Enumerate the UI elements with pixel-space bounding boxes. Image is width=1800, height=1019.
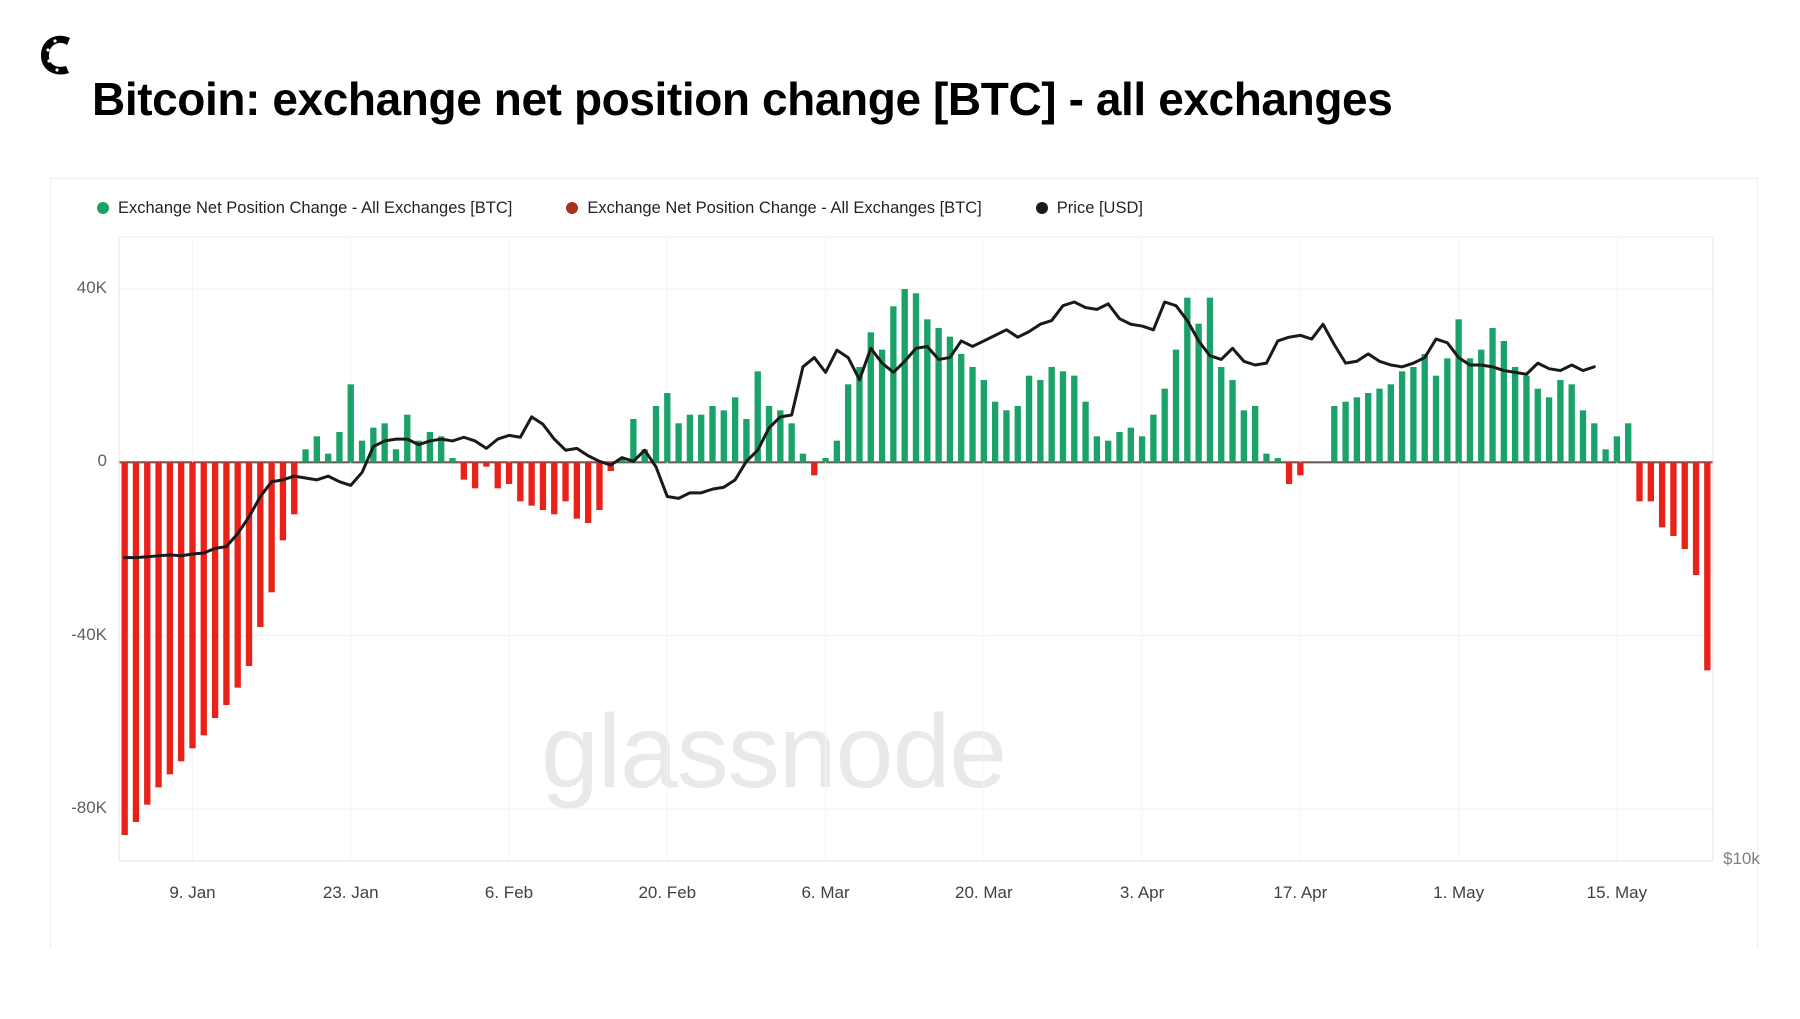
bar (1467, 358, 1473, 462)
legend-item-inflow[interactable]: Exchange Net Position Change - All Excha… (97, 199, 512, 218)
bar (1433, 376, 1439, 463)
bar (958, 354, 964, 462)
bar (1501, 341, 1507, 462)
glassnode-logo (30, 28, 84, 82)
bar (1670, 462, 1676, 536)
bar (913, 293, 919, 462)
bar (461, 462, 467, 479)
bar (189, 462, 195, 748)
bar (540, 462, 546, 510)
bar (992, 402, 998, 463)
bar (133, 462, 139, 822)
bar (257, 462, 263, 627)
glassnode-c-logo-icon (30, 28, 84, 82)
bar (675, 423, 681, 462)
bar (664, 393, 670, 462)
bar (630, 419, 636, 462)
bar (1263, 454, 1269, 463)
bar (1297, 462, 1303, 475)
bar (506, 462, 512, 484)
bar (574, 462, 580, 518)
bar (280, 462, 286, 540)
bar (1060, 371, 1066, 462)
bar (845, 384, 851, 462)
right-axis-label: $10k (1723, 849, 1760, 869)
bar (144, 462, 150, 804)
bar (1116, 432, 1122, 462)
bar (800, 454, 806, 463)
page-title: Bitcoin: exchange net position change [B… (92, 72, 1392, 126)
bar (472, 462, 478, 488)
bar (1139, 436, 1145, 462)
bar (1241, 410, 1247, 462)
bar (1003, 410, 1009, 462)
bar (969, 367, 975, 462)
bar (732, 397, 738, 462)
bar (528, 462, 534, 505)
bar (1048, 367, 1054, 462)
bar (1026, 376, 1032, 463)
bar (1082, 402, 1088, 463)
bar (1625, 423, 1631, 462)
bar (121, 462, 127, 835)
bar (1636, 462, 1642, 501)
y-axis-tick-label: -80K (71, 798, 107, 818)
bar (223, 462, 229, 705)
bar (551, 462, 557, 514)
bar (302, 449, 308, 462)
legend-dot-inflow-icon (97, 202, 109, 214)
bar (1422, 354, 1428, 462)
bar (155, 462, 161, 787)
legend-dot-outflow-icon (566, 202, 578, 214)
bar (495, 462, 501, 488)
bar (1523, 376, 1529, 463)
bar (1354, 397, 1360, 462)
bar (981, 380, 987, 462)
bar (596, 462, 602, 510)
bar (359, 441, 365, 463)
bar (1094, 436, 1100, 462)
bar (1128, 428, 1134, 463)
bar (1557, 380, 1563, 462)
bar (709, 406, 715, 462)
bar (698, 415, 704, 463)
bar (1342, 402, 1348, 463)
bar (890, 306, 896, 462)
bar (1489, 328, 1495, 462)
bar (212, 462, 218, 718)
bar (1071, 376, 1077, 463)
bar (653, 406, 659, 462)
bar (1376, 389, 1382, 463)
bar (687, 415, 693, 463)
bar (1535, 389, 1541, 463)
bar (1037, 380, 1043, 462)
bar (822, 458, 828, 462)
bar (1286, 462, 1292, 484)
bar (935, 328, 941, 462)
legend-item-outflow[interactable]: Exchange Net Position Change - All Excha… (566, 199, 981, 218)
x-axis-tick-label: 1. May (1399, 883, 1519, 903)
bar (1648, 462, 1654, 501)
bar (449, 458, 455, 462)
bar (743, 419, 749, 462)
bar (834, 441, 840, 463)
x-axis-tick-label: 6. Mar (766, 883, 886, 903)
x-axis-tick-label: 17. Apr (1240, 883, 1360, 903)
bar (924, 319, 930, 462)
x-axis-tick-label: 15. May (1557, 883, 1677, 903)
bar-series (121, 289, 1710, 835)
x-axis-tick-label: 3. Apr (1082, 883, 1202, 903)
chart-card: Exchange Net Position Change - All Excha… (50, 178, 1758, 948)
bar (1207, 298, 1213, 463)
y-axis-tick-label: 40K (77, 278, 107, 298)
bar (1365, 393, 1371, 462)
bar (325, 454, 331, 463)
bar (1015, 406, 1021, 462)
bar (585, 462, 591, 523)
bar (167, 462, 173, 774)
bar (427, 432, 433, 462)
bar (483, 462, 489, 466)
bar (1659, 462, 1665, 527)
bar (1331, 406, 1337, 462)
bar (314, 436, 320, 462)
legend-label-outflow: Exchange Net Position Change - All Excha… (587, 199, 981, 218)
bar (1693, 462, 1699, 575)
legend-dot-price-icon (1036, 202, 1048, 214)
bar (1173, 350, 1179, 463)
bar (348, 384, 354, 462)
bar (1614, 436, 1620, 462)
bar (721, 410, 727, 462)
y-axis-tick-label: -40K (71, 625, 107, 645)
bar (1399, 371, 1405, 462)
bar (1388, 384, 1394, 462)
bar (1704, 462, 1710, 670)
bar (1512, 367, 1518, 462)
bar (1162, 389, 1168, 463)
x-axis-tick-label: 20. Mar (924, 883, 1044, 903)
bar (788, 423, 794, 462)
bar (1602, 449, 1608, 462)
bar (1580, 410, 1586, 462)
bar (1546, 397, 1552, 462)
bar (1150, 415, 1156, 463)
bar (902, 289, 908, 462)
plot-area[interactable]: glassnode 40K0-40K-80K9. Jan23. Jan6. Fe… (51, 223, 1759, 949)
bar (1275, 458, 1281, 462)
legend-label-inflow: Exchange Net Position Change - All Excha… (118, 199, 512, 218)
bar (1444, 358, 1450, 462)
bar (336, 432, 342, 462)
bar (517, 462, 523, 501)
bar (235, 462, 241, 687)
bar (562, 462, 568, 501)
bar (1682, 462, 1688, 549)
bar (393, 449, 399, 462)
bar (1591, 423, 1597, 462)
x-axis-tick-label: 23. Jan (291, 883, 411, 903)
bar (246, 462, 252, 666)
bar (178, 462, 184, 761)
bar (1105, 441, 1111, 463)
chart-svg (51, 223, 1759, 949)
x-axis-tick-label: 20. Feb (607, 883, 727, 903)
y-axis-tick-label: 0 (98, 451, 107, 471)
x-axis-tick-label: 9. Jan (132, 883, 252, 903)
bar (1252, 406, 1258, 462)
bar (1410, 367, 1416, 462)
bar (1569, 384, 1575, 462)
legend-label-price: Price [USD] (1057, 199, 1143, 218)
bar (1455, 319, 1461, 462)
chart-legend: Exchange Net Position Change - All Excha… (51, 195, 1757, 221)
x-axis-tick-label: 6. Feb (449, 883, 569, 903)
bar (811, 462, 817, 475)
bar (1229, 380, 1235, 462)
bar (1218, 367, 1224, 462)
bar (291, 462, 297, 514)
bar (201, 462, 207, 735)
legend-item-price[interactable]: Price [USD] (1036, 199, 1143, 218)
